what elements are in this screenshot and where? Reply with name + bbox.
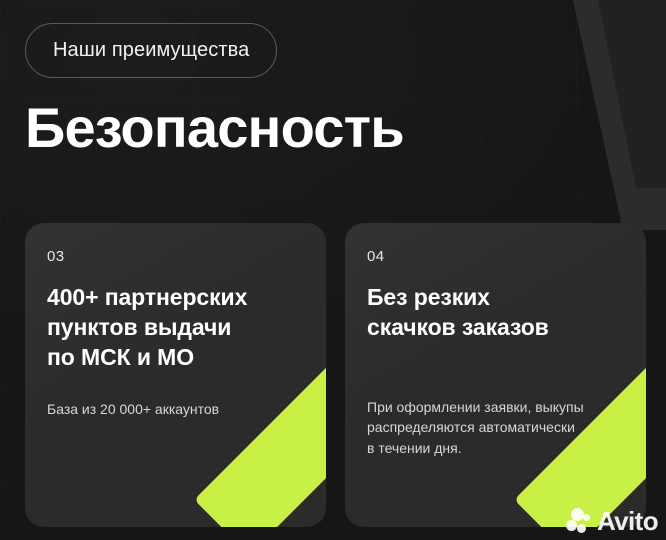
avito-dots-icon [566,508,592,534]
avito-wordmark: Avito [597,508,658,534]
page-title: Безопасность [25,100,404,156]
card-body-text: База из 20 000+ аккаунтов [47,399,312,419]
card-body-text: При оформлении заявки, выкупы распределя… [367,397,632,458]
card-sheen [25,223,326,527]
card-number: 03 [47,248,65,265]
feature-card-03: 03 400+ партнерских пунктов выдачи по МС… [25,223,326,527]
card-title: 400+ партнерских пунктов выдачи по МСК и… [47,283,308,373]
card-title: Без резких скачков заказов [367,283,628,343]
avito-watermark: Avito [566,508,658,534]
section-badge-label: Наши преимущества [53,39,249,62]
promo-slide: Наши преимущества Безопасность 03 400+ п… [0,0,666,540]
card-number: 04 [367,248,385,265]
feature-card-04: 04 Без резких скачков заказов При оформл… [345,223,646,527]
card-sheen [345,223,646,527]
section-badge: Наши преимущества [25,23,277,78]
